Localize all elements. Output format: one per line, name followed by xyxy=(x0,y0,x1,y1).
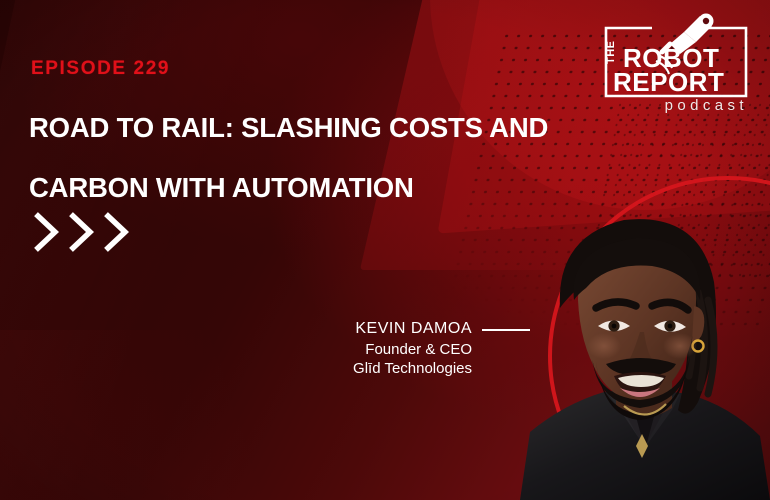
guest-name-rule xyxy=(482,329,530,331)
chevron-right-icon xyxy=(34,212,60,252)
title-line-2: CARBON WITH AUTOMATION xyxy=(29,158,569,218)
chevron-right-icon xyxy=(69,212,95,252)
guest-role: Founder & CEO xyxy=(330,341,530,358)
chevron-group xyxy=(34,212,130,252)
logo-report-text: REPORT xyxy=(613,67,724,97)
guest-name-row: KEVIN DAMOA xyxy=(330,320,530,338)
logo-the-text: THE xyxy=(605,41,617,65)
title-line-1: ROAD TO RAIL: SLASHING COSTS AND xyxy=(29,98,569,158)
guest-portrait-svg xyxy=(512,196,770,500)
page-title: ROAD TO RAIL: SLASHING COSTS AND CARBON … xyxy=(29,98,569,218)
guest-info: KEVIN DAMOA Founder & CEO Glīd Technolog… xyxy=(330,320,530,377)
episode-label: EPISODE 229 xyxy=(31,58,170,80)
guest-name: KEVIN DAMOA xyxy=(355,320,472,338)
chevron-right-icon xyxy=(104,212,130,252)
guest-company: Glīd Technologies xyxy=(330,360,530,377)
logo-podcast-subtitle: podcast xyxy=(665,97,748,114)
guest-portrait xyxy=(512,196,770,500)
podcast-promo-card: EPISODE 229 ROAD TO RAIL: SLASHING COSTS… xyxy=(0,0,770,500)
